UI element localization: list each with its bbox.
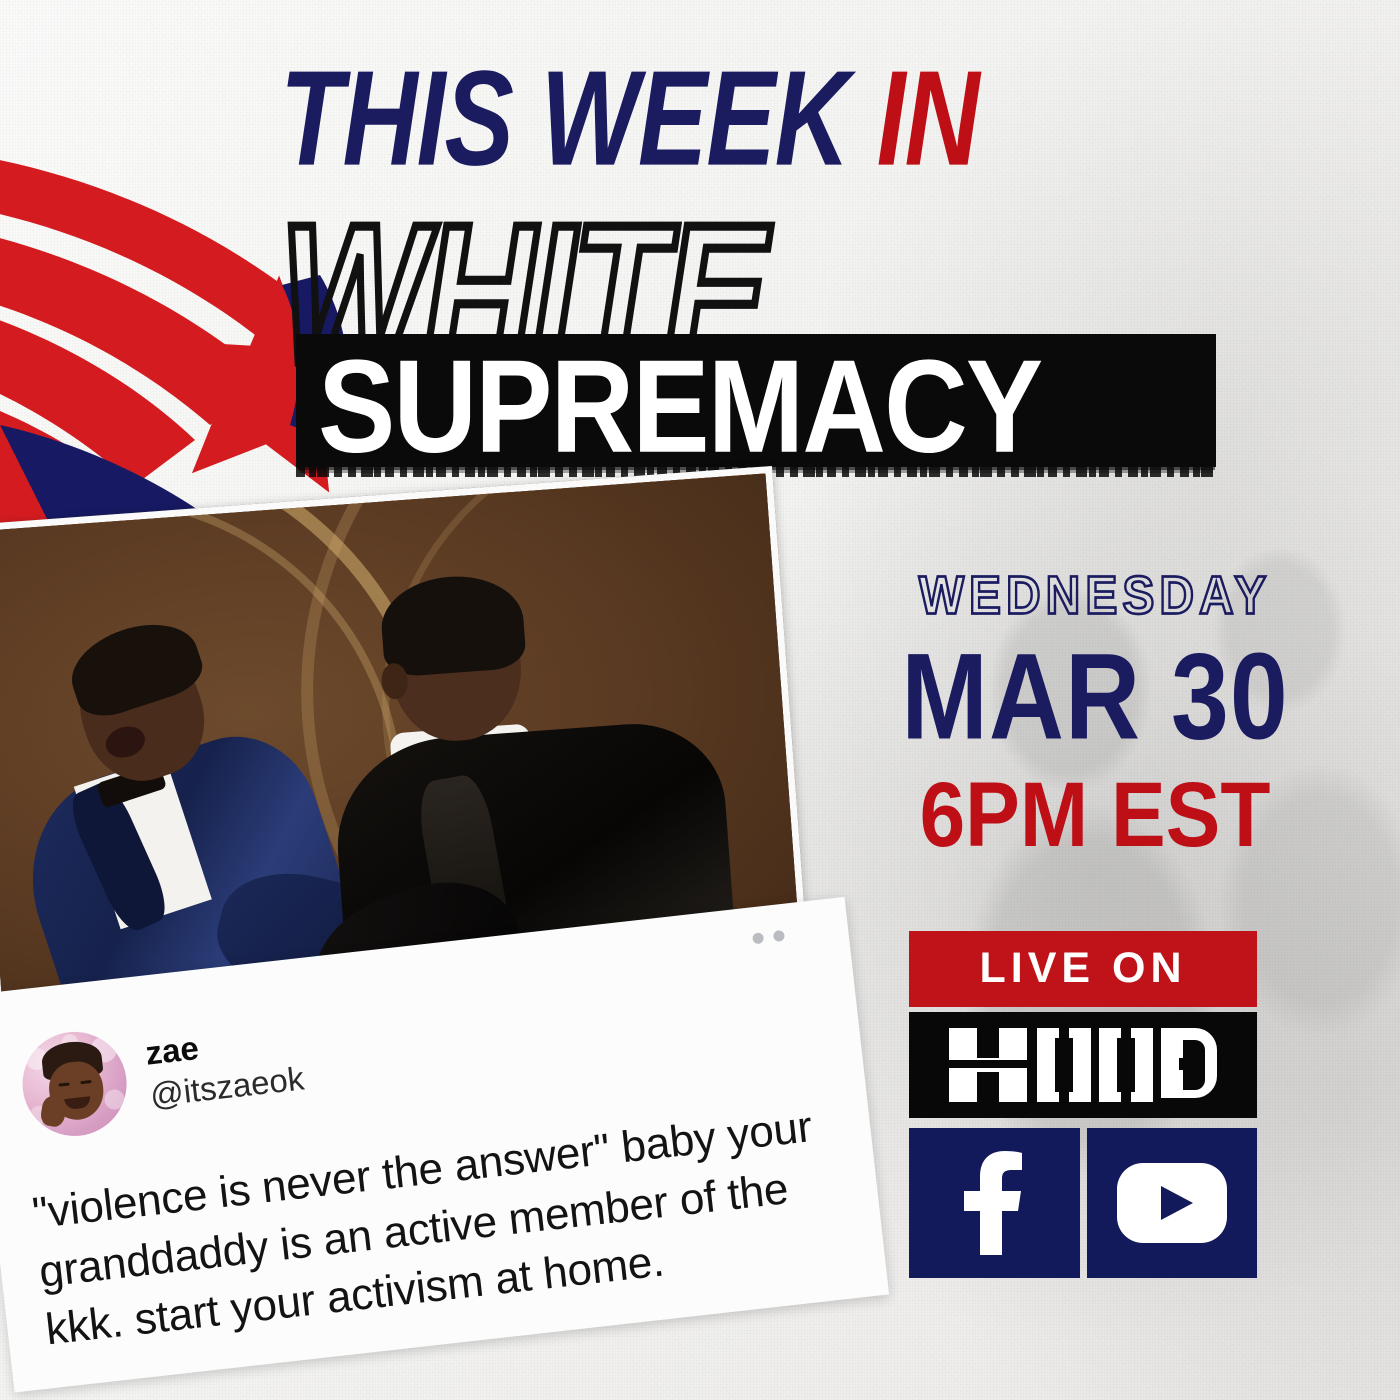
facebook-link[interactable] (909, 1128, 1080, 1278)
headline-line-1: THIS WEEK IN (280, 58, 1240, 182)
youtube-icon (1117, 1163, 1227, 1243)
schedule-date: MAR 30 (880, 638, 1310, 758)
tweet-header: zae @itszaeok (17, 1007, 307, 1142)
ellipsis-icon[interactable] (752, 930, 785, 944)
headline-in: IN (877, 44, 979, 195)
schedule-time: 6PM EST (880, 770, 1310, 862)
hood-logo (909, 1012, 1257, 1118)
youtube-link[interactable] (1087, 1128, 1258, 1278)
headline-line-3: SUPREMACY (318, 340, 1218, 472)
live-on-block: LIVE ON (909, 931, 1257, 1278)
tweet-identity: zae @itszaeok (144, 1018, 307, 1116)
schedule-weekday: WEDNESDAY (880, 570, 1310, 624)
facebook-icon (958, 1151, 1030, 1255)
tweet-text: "violence is never the answer" baby your… (30, 1095, 855, 1360)
headline-this-week: THIS WEEK (280, 44, 877, 195)
poster-canvas: THIS WEEK IN WHITE SUPREMACY (0, 0, 1400, 1400)
schedule-block: WEDNESDAY MAR 30 6PM EST (880, 570, 1310, 852)
live-on-label: LIVE ON (909, 931, 1257, 1007)
avatar (17, 1026, 132, 1141)
headline: THIS WEEK IN WHITE (280, 58, 1240, 340)
social-links (909, 1128, 1257, 1278)
